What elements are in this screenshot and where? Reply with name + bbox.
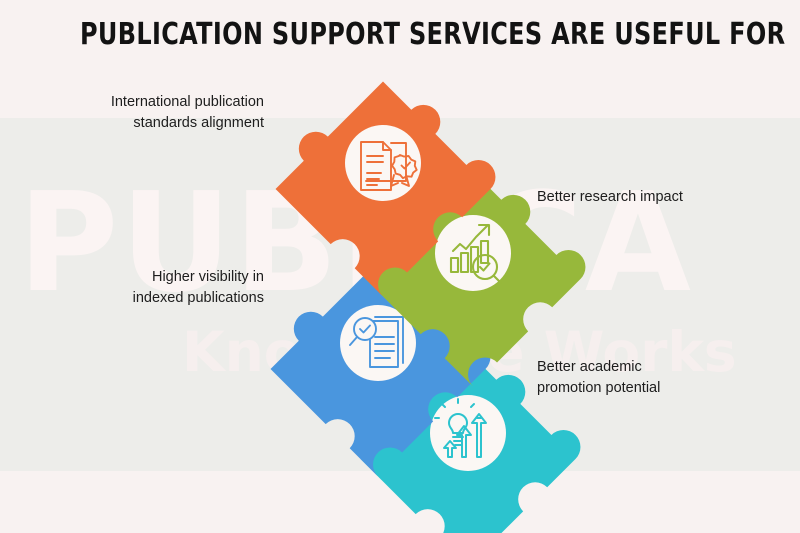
puzzle-piece-orange[interactable]	[263, 69, 503, 309]
label-indexed-visibility: Higher visibility in indexed publication…	[70, 267, 264, 309]
label-research-impact: Better research impact	[537, 187, 777, 208]
page-title: PUBLICATION SUPPORT SERVICES ARE USEFUL …	[80, 17, 720, 52]
infographic-canvas: PUBLICA Knowledge Works PUBLICATION SUPP…	[0, 0, 800, 533]
label-academic-promotion: Better academic promotion potential	[537, 357, 777, 399]
label-international-standards: International publication standards alig…	[46, 92, 264, 134]
